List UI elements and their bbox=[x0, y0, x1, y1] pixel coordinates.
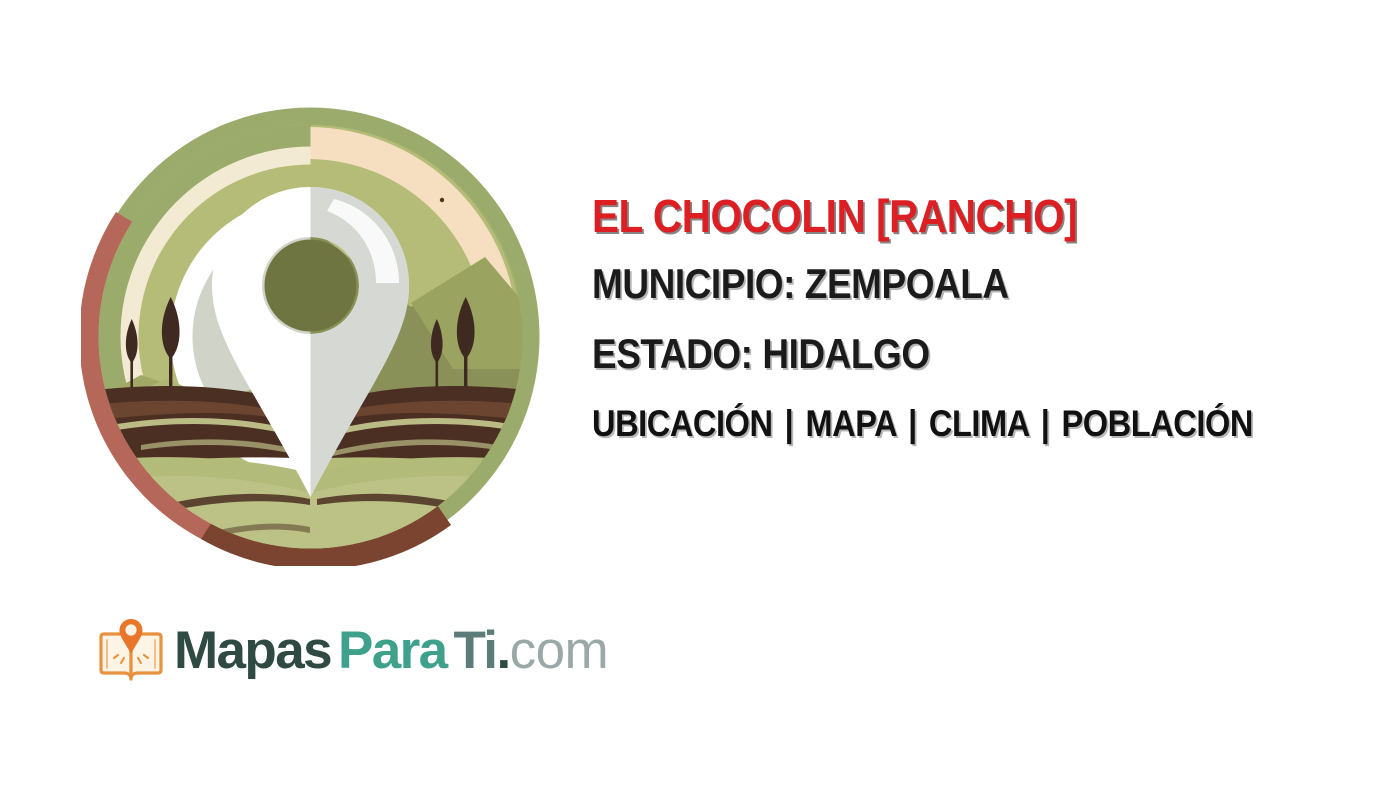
estado-label: ESTADO: HIDALGO bbox=[592, 319, 1287, 389]
section-nav: UBICACIÓN | MAPA | CLIMA | POBLACIÓN bbox=[592, 389, 1287, 459]
wordmark-para: Para bbox=[331, 621, 447, 680]
nav-item-ubicacion[interactable]: UBICACIÓN bbox=[592, 403, 773, 444]
page-root: EL CHOCOLIN [RANCHO] MUNICIPIO: ZEMPOALA… bbox=[0, 0, 1400, 786]
brand-wordmark: MapasParaTi.com bbox=[174, 624, 608, 681]
location-emblem bbox=[81, 107, 540, 566]
speck-detail bbox=[440, 198, 444, 202]
nav-item-poblacion[interactable]: POBLACIÓN bbox=[1062, 403, 1253, 444]
nav-item-mapa[interactable]: MAPA bbox=[805, 403, 895, 444]
page-title: EL CHOCOLIN [RANCHO] bbox=[592, 183, 1287, 249]
wordmark-ti: Ti bbox=[446, 621, 496, 680]
site-logo[interactable]: MapasParaTi.com bbox=[99, 618, 608, 686]
open-book-with-map-pin-icon bbox=[99, 618, 163, 686]
nav-separator-1: | bbox=[781, 403, 797, 444]
nav-separator-2: | bbox=[905, 403, 921, 444]
nav-item-clima[interactable]: CLIMA bbox=[929, 403, 1029, 444]
wordmark-com: com bbox=[510, 621, 609, 680]
wordmark-mapas: Mapas bbox=[174, 621, 331, 680]
municipio-label: MUNICIPIO: ZEMPOALA bbox=[592, 249, 1287, 319]
wordmark-dot: . bbox=[496, 621, 509, 680]
nav-separator-3: | bbox=[1037, 403, 1053, 444]
location-info-block: EL CHOCOLIN [RANCHO] MUNICIPIO: ZEMPOALA… bbox=[592, 183, 1382, 459]
